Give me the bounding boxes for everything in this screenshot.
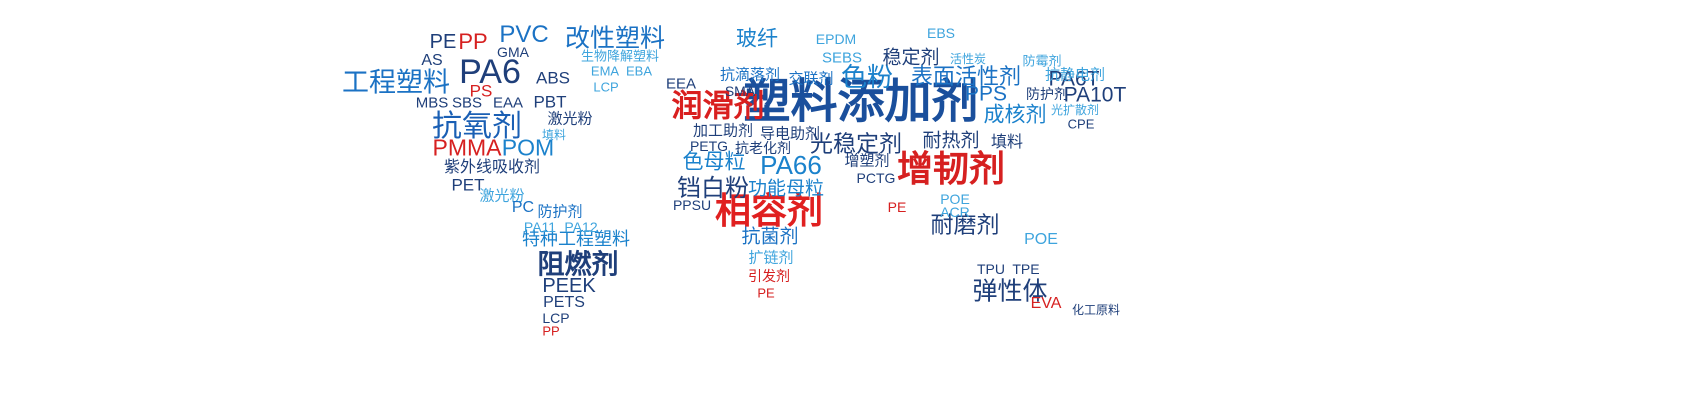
cloud-word[interactable]: 增塑剂 (844, 154, 889, 169)
cloud-word[interactable]: TPU (977, 262, 1005, 276)
cloud-word[interactable]: 工程塑料 (342, 70, 450, 97)
cloud-word[interactable]: EPDM (816, 32, 856, 46)
cloud-word[interactable]: 防护剂 (1026, 88, 1068, 102)
cloud-word[interactable]: PEEK (542, 276, 595, 296)
cloud-word[interactable]: EEA (666, 77, 696, 92)
cloud-word[interactable]: EBA (626, 65, 652, 78)
cloud-word[interactable]: 改性塑料 (565, 26, 665, 51)
cloud-word[interactable]: PE (430, 32, 457, 52)
cloud-word[interactable]: 抗静电剂 (1045, 68, 1105, 83)
cloud-word[interactable]: 紫外线吸收剂 (444, 159, 540, 175)
cloud-word[interactable]: 填料 (542, 129, 566, 141)
cloud-word[interactable]: 引发剂 (748, 270, 790, 284)
cloud-word[interactable]: PCTG (857, 171, 896, 185)
cloud-word[interactable]: PA12 (564, 220, 597, 234)
cloud-word[interactable]: AS (421, 53, 442, 69)
cloud-word[interactable]: 导电助剂 (760, 127, 820, 142)
cloud-word[interactable]: EBS (927, 26, 955, 40)
cloud-word[interactable]: 交联剂 (788, 72, 833, 87)
cloud-word[interactable]: 色粉 (841, 65, 893, 91)
cloud-word[interactable]: PE (888, 200, 907, 214)
cloud-word[interactable]: 耐热剂 (922, 132, 979, 151)
cloud-word[interactable]: TPE (1012, 262, 1039, 276)
cloud-word[interactable]: 功能母粒 (748, 180, 824, 199)
cloud-word[interactable]: ACR (940, 205, 970, 219)
cloud-word[interactable]: 光扩散剂 (1051, 104, 1099, 116)
cloud-word[interactable]: 激光粉 (547, 112, 592, 127)
cloud-word[interactable]: PETS (543, 295, 585, 311)
cloud-word[interactable]: PC (512, 200, 534, 216)
cloud-word[interactable]: 抗老化剂 (735, 142, 791, 156)
cloud-word[interactable]: 生物降解塑料 (581, 51, 659, 64)
cloud-word[interactable]: MBS (416, 96, 449, 111)
cloud-word[interactable]: PP (458, 31, 487, 53)
cloud-word[interactable]: EMA (591, 65, 619, 78)
cloud-word[interactable]: 防护剂 (537, 205, 582, 220)
cloud-word[interactable]: PP (542, 325, 559, 338)
cloud-word[interactable]: PPSU (673, 198, 711, 212)
cloud-word[interactable]: EVA (1031, 296, 1062, 312)
cloud-word[interactable]: LCP (593, 81, 618, 94)
cloud-word[interactable]: PS (470, 83, 493, 100)
cloud-word[interactable]: 抗菌剂 (741, 228, 798, 247)
cloud-word[interactable]: PBT (533, 94, 566, 111)
cloud-word[interactable]: PPS (965, 84, 1007, 105)
cloud-word[interactable]: PETG (690, 139, 728, 153)
cloud-word[interactable]: 加工助剂 (693, 124, 753, 139)
cloud-word[interactable]: 抗滴落剂 (720, 68, 780, 83)
cloud-word[interactable]: POE (1024, 232, 1058, 248)
cloud-word[interactable]: 扩链剂 (748, 251, 793, 266)
cloud-word[interactable]: 稳定剂 (882, 49, 939, 68)
cloud-word[interactable]: EAA (493, 96, 523, 111)
cloud-word[interactable]: 增韧剂 (897, 152, 1005, 188)
cloud-word[interactable]: 化工原料 (1072, 304, 1120, 316)
cloud-word[interactable]: 活性炭 (950, 53, 986, 65)
cloud-word[interactable]: GMA (497, 45, 529, 59)
cloud-word[interactable]: PA11 (524, 220, 556, 234)
cloud-word[interactable]: ABS (536, 70, 570, 87)
cloud-word[interactable]: 成核剂 (984, 105, 1047, 126)
cloud-word[interactable]: 玻纤 (736, 29, 778, 50)
cloud-word[interactable]: 填料 (991, 134, 1023, 150)
wordcloud-canvas: 塑料添加剂增韧剂相容剂润滑剂阻燃剂工程塑料抗氧剂改性塑料色粉表面活性剂PA6弹性… (0, 0, 1707, 400)
cloud-word[interactable]: CPE (1068, 118, 1095, 131)
cloud-word[interactable]: PE (757, 287, 774, 300)
cloud-word[interactable]: SEBS (822, 51, 862, 66)
cloud-word[interactable]: SMA (725, 84, 755, 98)
